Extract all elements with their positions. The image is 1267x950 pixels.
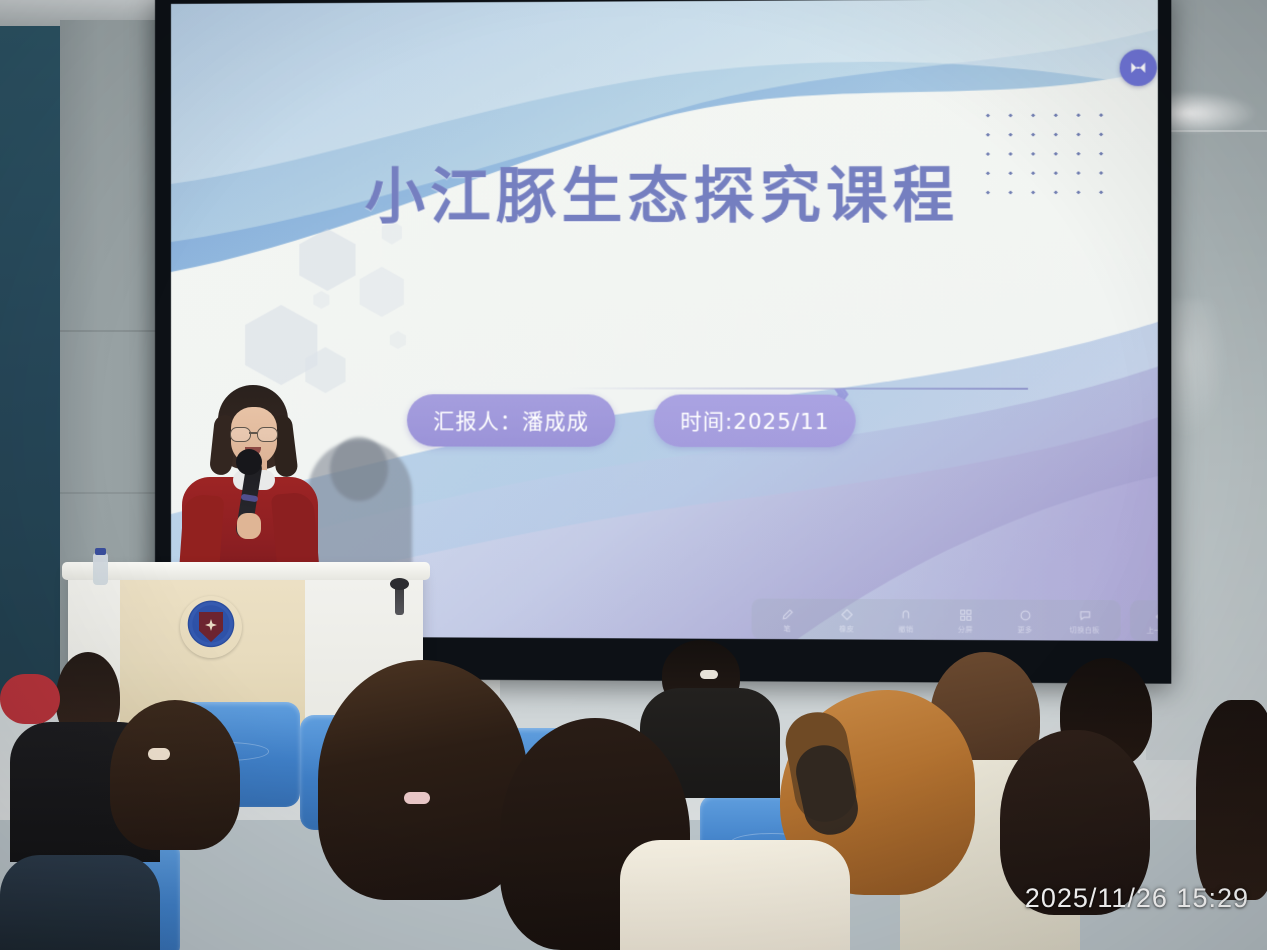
crest-shield [199,612,223,642]
split-screen-icon [959,607,972,624]
audience-torso [0,855,160,950]
chevron-left-icon: ‹ [1155,607,1158,624]
toolbar-whiteboard-label: 切换白板 [1070,625,1100,635]
audience-head [318,660,528,900]
prev-page-button[interactable]: ‹ 上一页 [1147,607,1158,636]
toolbar-undo-label: 撤销 [898,624,913,634]
toolbar-more-button[interactable]: 更多 [1005,607,1044,636]
presentation-toolbar[interactable]: 笔 橡皮 [752,599,1158,641]
app-logo-badge[interactable] [1120,49,1157,86]
toolbar-pen-label: 笔 [784,624,791,634]
camera-timestamp: 2025/11/26 15:29 [1025,883,1249,914]
slide-title: 小江豚生态探究课程 [171,146,1158,236]
presenter-hand [237,513,261,539]
presenter [175,385,325,590]
toolbar-more-label: 更多 [1017,625,1032,635]
water-bottle [93,553,108,585]
toolbar-pager-group[interactable]: ‹ 上一页 1 / 23 页码 › [1130,600,1158,641]
column-seam [60,330,170,332]
toolbar-pen-button[interactable]: 笔 [768,606,807,634]
silhouette-shadow-head [330,437,388,501]
prev-page-label: 上一页 [1147,626,1158,636]
pen-icon [781,606,794,623]
audience-head [110,700,240,850]
whiteboard-icon [1078,607,1091,624]
audience-head [1196,700,1267,900]
slide-meta-row: 汇报人：潘成成 时间:2025/11 [407,394,856,447]
hair-tie [404,792,430,804]
glasses-icon [230,427,278,440]
toolbar-eraser-label: 橡皮 [839,624,854,634]
toolbar-split-screen-button[interactable]: 分屏 [946,606,985,635]
toolbar-tools-group[interactable]: 笔 橡皮 [752,599,1121,641]
undo-icon [899,606,912,623]
hair-tie [700,670,718,679]
toolbar-whiteboard-button[interactable]: 切换白板 [1065,607,1104,636]
more-icon [1018,607,1031,624]
photograph-frame: 小江豚生态探究课程 ››› 汇报人：潘成成 时间:2025/11 [0,0,1267,950]
toolbar-eraser-button[interactable]: 橡皮 [827,606,866,634]
water-bottle-cap [95,548,106,555]
eraser-icon [840,606,853,623]
slide-divider-line [564,387,1028,389]
hair-clip [148,748,170,760]
column-seam-lower [60,492,170,494]
presenter-pill: 汇报人：潘成成 [407,394,615,447]
podium-top-surface [62,562,430,580]
microphone-stand-head [390,578,409,590]
audience-torso [620,840,850,950]
audience-red-hood [0,674,60,724]
microphone-head [236,449,262,475]
toolbar-split-label: 分屏 [958,625,973,635]
toolbar-undo-button[interactable]: 撤销 [886,606,925,635]
date-pill: 时间:2025/11 [654,394,856,447]
